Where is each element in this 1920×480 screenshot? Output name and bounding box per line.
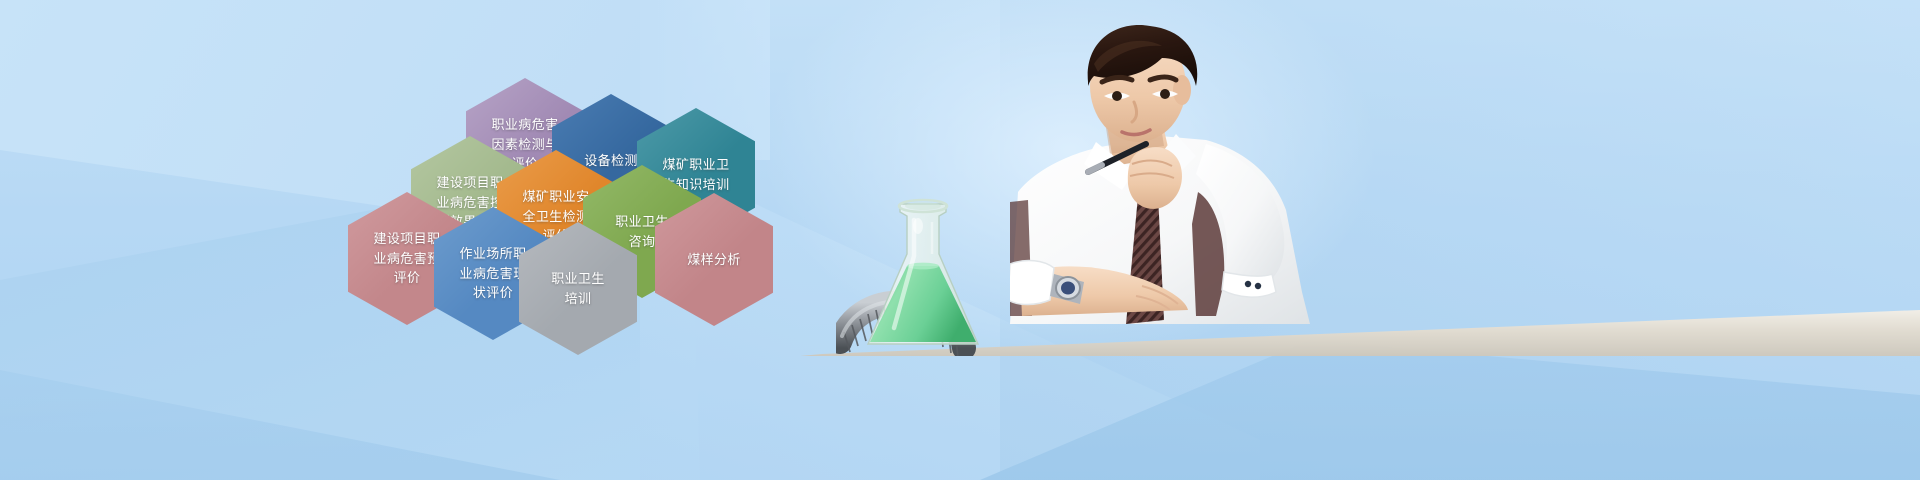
hex-occupational-health-training-label-line: 培训 bbox=[529, 289, 627, 309]
hex-coal-sample-analysis-label-line: 煤样分析 bbox=[665, 250, 763, 270]
lab-equipment-group bbox=[836, 196, 1026, 356]
photo-businessman bbox=[1010, 24, 1440, 344]
erlenmeyer-flask bbox=[868, 200, 978, 344]
hex-occupational-health-training-label-line: 职业卫生 bbox=[529, 269, 627, 289]
banner-root: 职业病危害因素检测与评价设备检测煤矿职业卫生知识培训建设项目职业病危害控制效果评… bbox=[0, 0, 1920, 480]
hex-coal-mine-occupational-health-knowledge-training-label-line: 煤矿职业卫 bbox=[647, 155, 745, 175]
hexagon-cluster: 职业病危害因素检测与评价设备检测煤矿职业卫生知识培训建设项目职业病危害控制效果评… bbox=[0, 0, 780, 360]
hex-occupational-health-training-label: 职业卫生培训 bbox=[529, 269, 627, 308]
hex-coal-sample-analysis-label: 煤样分析 bbox=[665, 250, 763, 270]
